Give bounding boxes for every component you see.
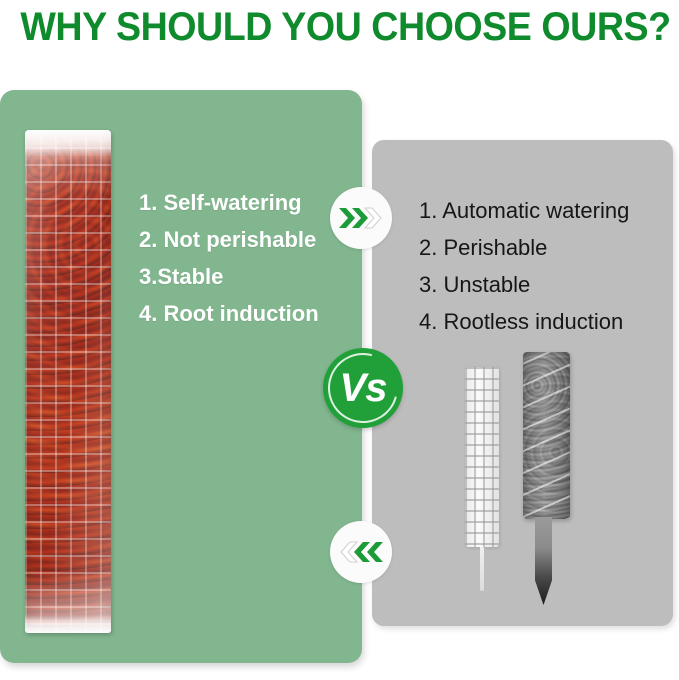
product-image-theirs-mesh-tube (465, 367, 499, 547)
feature-item-ours-2: 2. Not perishable (139, 221, 351, 258)
feature-item-theirs-4: 4. Rootless induction (419, 303, 663, 340)
infographic-canvas: WHY SHOULD YOU CHOOSE OURS? 1. Self-wate… (0, 0, 679, 680)
bag-top-seal (25, 130, 111, 156)
page-title: WHY SHOULD YOU CHOOSE OURS? (20, 4, 658, 50)
plastic-sheen-overlay (25, 130, 111, 633)
feature-item-theirs-2: 2. Perishable (419, 229, 663, 266)
feature-item-ours-1: 1. Self-watering (139, 184, 351, 221)
vs-badge-label: Vs (323, 348, 403, 428)
double-chevron-right-icon (330, 187, 392, 249)
feature-item-theirs-3: 3. Unstable (419, 266, 663, 303)
bag-bottom-seal (25, 615, 111, 633)
product-image-ours-coir-pole (25, 130, 111, 633)
feature-item-ours-4: 4. Root induction (139, 295, 351, 332)
product-image-theirs-moss-pole (523, 352, 570, 519)
product-image-theirs-mesh-tube-tip (480, 547, 484, 591)
feature-item-theirs-1: 1. Automatic watering (419, 192, 663, 229)
vs-badge-icon: Vs (323, 348, 403, 428)
double-chevron-left-icon (330, 521, 392, 583)
feature-item-ours-3: 3.Stable (139, 258, 351, 295)
feature-list-ours: 1. Self-watering 2. Not perishable 3.Sta… (139, 184, 351, 332)
feature-list-theirs: 1. Automatic watering 2. Perishable 3. U… (419, 192, 663, 340)
